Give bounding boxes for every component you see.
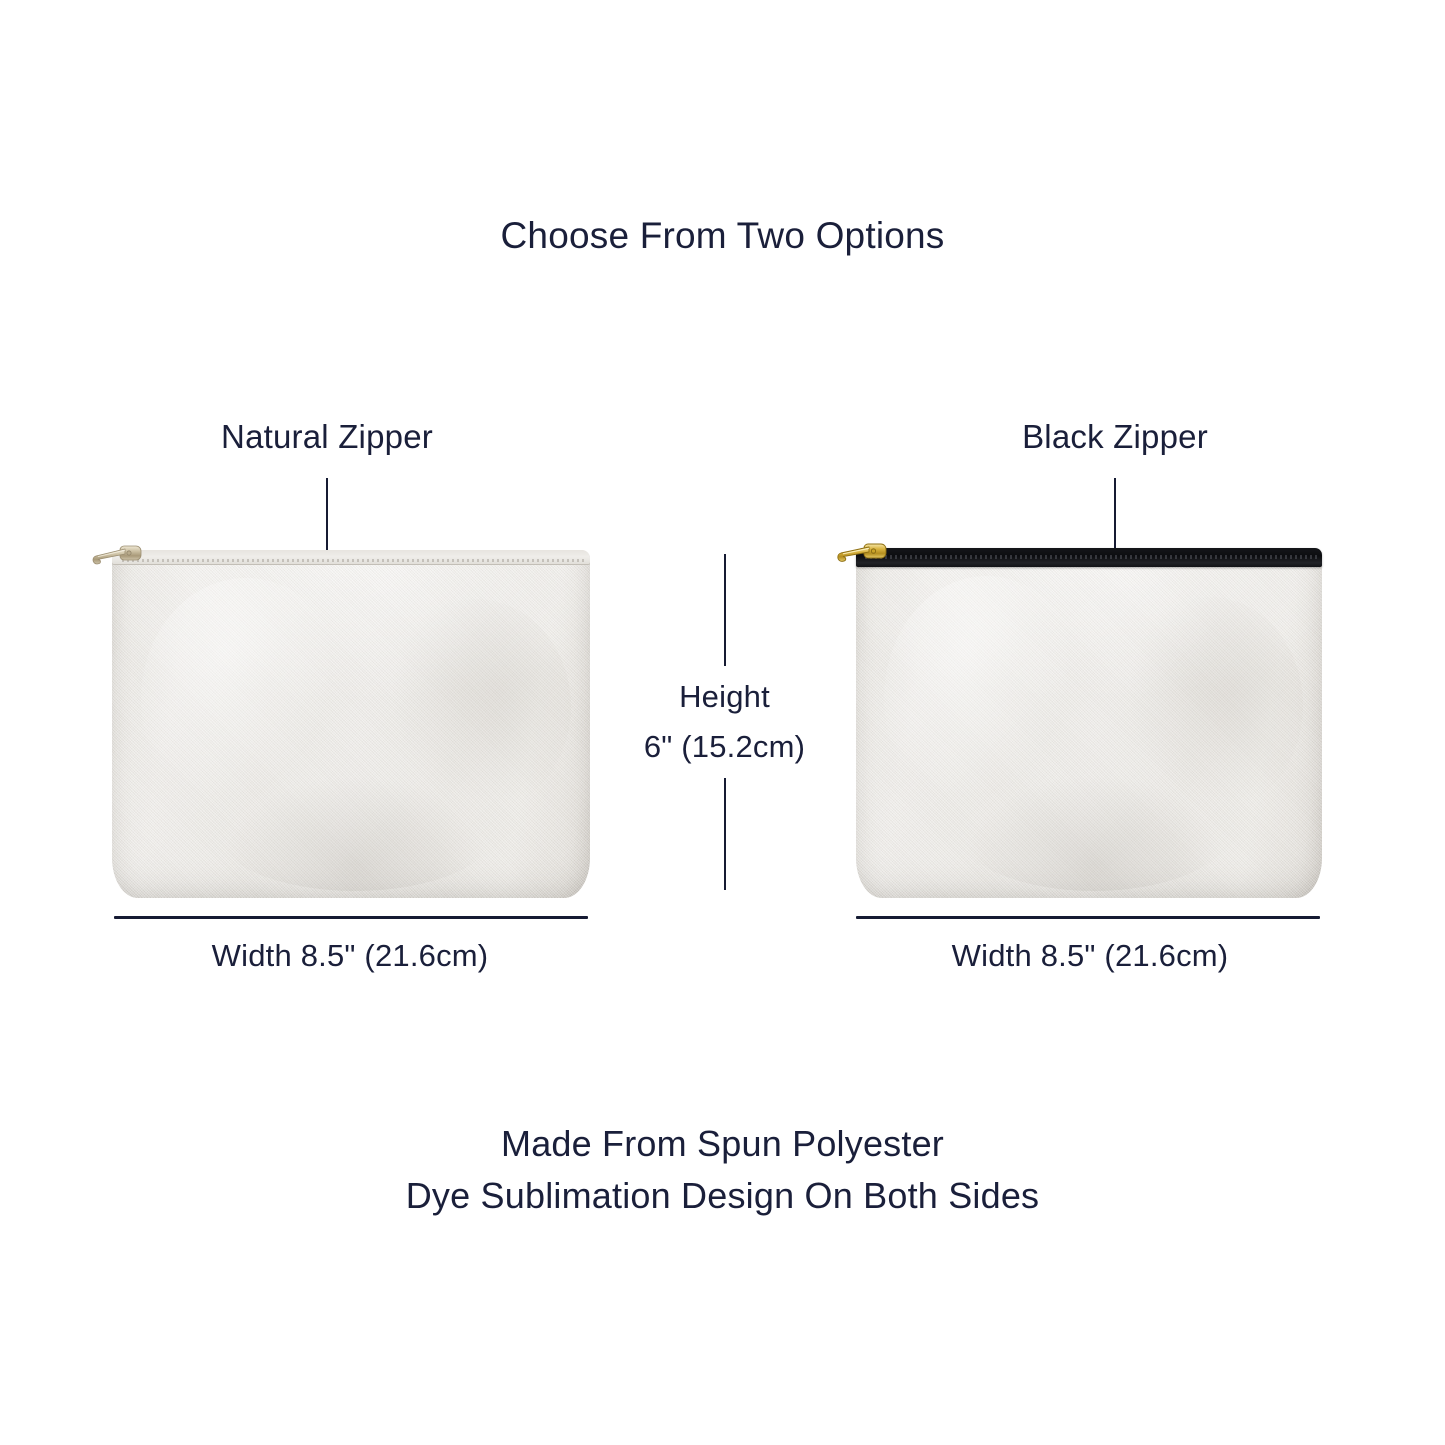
width-label-black-zipper: Width 8.5" (21.6cm) [855,938,1325,974]
product-label-natural-zipper: Natural Zipper [127,418,527,456]
zipper-teeth [122,559,586,562]
pouch-natural-zipper [112,550,590,898]
width-dimension-line-right [856,916,1320,919]
infographic-canvas: Choose From Two Options Natural Zipper [0,0,1445,1445]
height-value: 6" (15.2cm) [572,722,877,772]
page-title: Choose From Two Options [0,215,1445,257]
height-dimension-line-lower [724,778,726,890]
width-dimension-line-left [114,916,588,919]
height-title: Height [572,672,877,722]
footer-line-1: Made From Spun Polyester [0,1118,1445,1170]
pouch-black-zipper [856,548,1322,898]
height-dimension-line-upper [724,554,726,666]
product-label-black-zipper: Black Zipper [915,418,1315,456]
fabric-texture [112,550,590,898]
height-dimension-label: Height 6" (15.2cm) [572,672,877,772]
zipper-teeth [865,555,1317,559]
pouch-body [112,550,590,898]
zipper-black [856,548,1322,567]
pouch-body [856,548,1322,898]
zipper-natural [112,550,590,565]
fabric-texture [856,548,1322,898]
footer-line-2: Dye Sublimation Design On Both Sides [0,1170,1445,1222]
footer-description: Made From Spun Polyester Dye Sublimation… [0,1118,1445,1222]
width-label-natural-zipper: Width 8.5" (21.6cm) [110,938,590,974]
